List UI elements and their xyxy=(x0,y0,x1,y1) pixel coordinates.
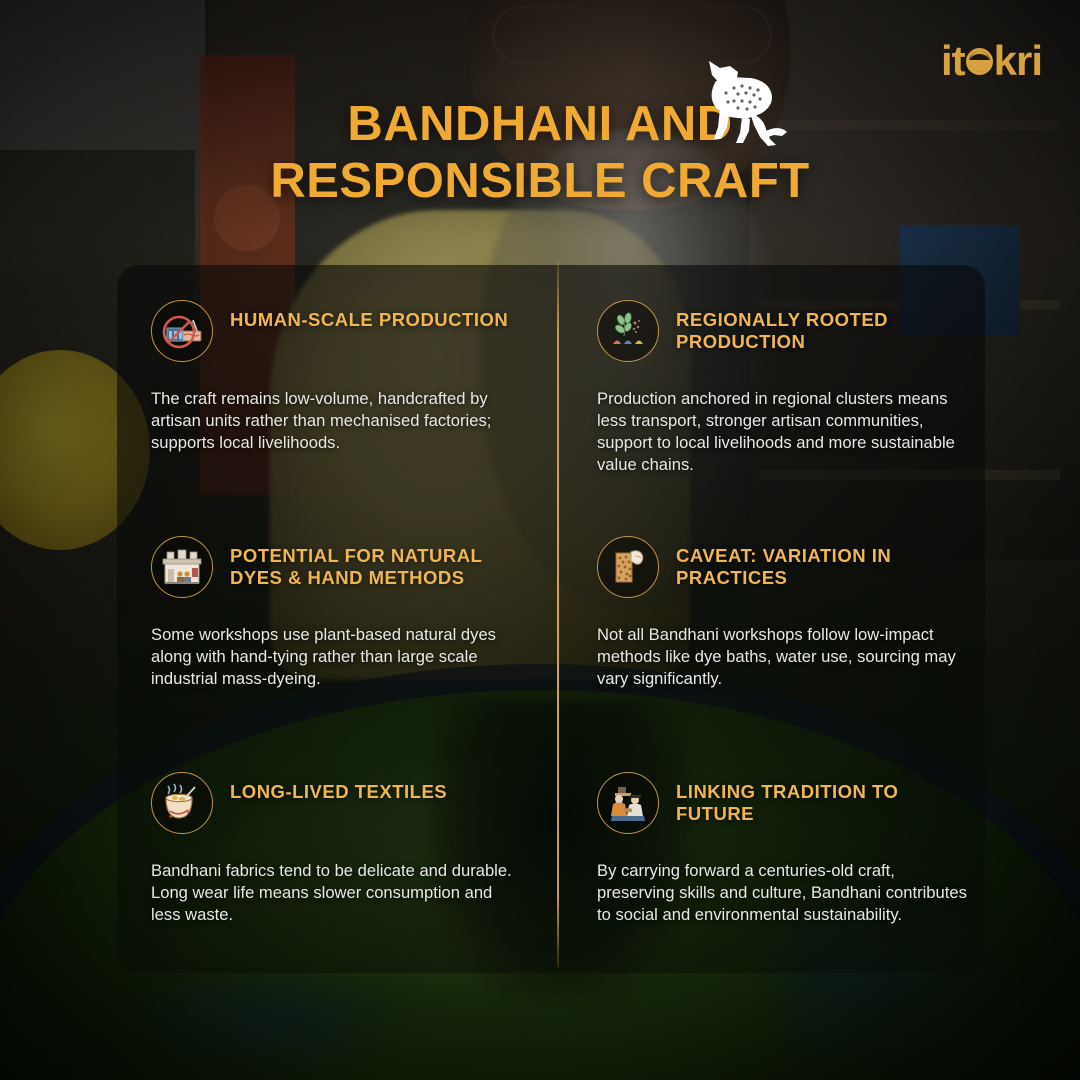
content-panel: HUMAN-SCALE PRODUCTION The craft remains… xyxy=(117,265,985,973)
card-body: Not all Bandhani workshops follow low-im… xyxy=(597,624,971,690)
card-title: POTENTIAL FOR NATURAL DYES & HAND METHOD… xyxy=(230,536,521,589)
page-title-line1: BANDHANI AND xyxy=(0,96,1080,153)
card-long-lived-textiles: LONG-LIVED TEXTILES Bandhani fabrics ten… xyxy=(117,737,551,973)
card-header: REGIONALLY ROOTED PRODUCTION xyxy=(597,300,971,362)
brand-logo[interactable]: it kri xyxy=(941,40,1042,82)
no-factory-icon xyxy=(151,300,213,362)
card-caveat-variation-in-practices: CAVEAT: VARIATION IN PRACTICES Not all B… xyxy=(551,501,985,737)
artisan-workshop-building-icon xyxy=(151,536,213,598)
card-title: LONG-LIVED TEXTILES xyxy=(230,772,447,803)
card-header: CAVEAT: VARIATION IN PRACTICES xyxy=(597,536,971,598)
page-title-line2: RESPONSIBLE CRAFT xyxy=(0,153,1080,210)
card-title: LINKING TRADITION TO FUTURE xyxy=(676,772,971,825)
brand-logo-text-after: kri xyxy=(994,40,1042,82)
bandhani-cat-illustration xyxy=(690,57,798,152)
card-body: The craft remains low-volume, handcrafte… xyxy=(151,388,521,454)
card-human-scale-production: HUMAN-SCALE PRODUCTION The craft remains… xyxy=(117,265,551,501)
page-title: BANDHANI AND RESPONSIBLE CRAFT xyxy=(0,96,1080,210)
card-linking-tradition-to-future: LINKING TRADITION TO FUTURE By carrying … xyxy=(551,737,985,973)
hand-holding-bandhani-fabric-icon xyxy=(597,536,659,598)
brand-logo-text-before: it xyxy=(941,40,965,82)
card-title: REGIONALLY ROOTED PRODUCTION xyxy=(676,300,971,353)
basket-o-icon xyxy=(966,48,993,75)
two-artisans-icon xyxy=(597,772,659,834)
card-body: Some workshops use plant-based natural d… xyxy=(151,624,521,690)
card-body: Bandhani fabrics tend to be delicate and… xyxy=(151,860,521,926)
leaves-and-dye-powders-icon xyxy=(597,300,659,362)
card-regionally-rooted-production: REGIONALLY ROOTED PRODUCTION Production … xyxy=(551,265,985,501)
card-potential-for-natural-dyes: POTENTIAL FOR NATURAL DYES & HAND METHOD… xyxy=(117,501,551,737)
card-header: LINKING TRADITION TO FUTURE xyxy=(597,772,971,834)
steaming-dye-pot-icon xyxy=(151,772,213,834)
cards-grid: HUMAN-SCALE PRODUCTION The craft remains… xyxy=(117,265,985,973)
card-body: By carrying forward a centuries-old craf… xyxy=(597,860,971,926)
card-body: Production anchored in regional clusters… xyxy=(597,388,971,476)
card-header: HUMAN-SCALE PRODUCTION xyxy=(151,300,521,362)
card-header: POTENTIAL FOR NATURAL DYES & HAND METHOD… xyxy=(151,536,521,598)
card-title: HUMAN-SCALE PRODUCTION xyxy=(230,300,508,331)
card-header: LONG-LIVED TEXTILES xyxy=(151,772,521,834)
card-title: CAVEAT: VARIATION IN PRACTICES xyxy=(676,536,971,589)
